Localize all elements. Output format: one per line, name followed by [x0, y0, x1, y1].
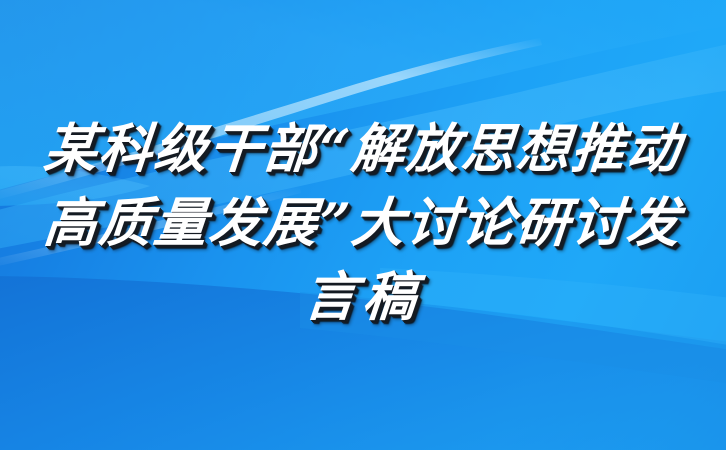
background-swoosh-graphic — [0, 0, 726, 450]
document-cover-banner: 某科级干部“解放思想推动 高质量发展”大讨论研讨发 言稿 — [0, 0, 726, 450]
